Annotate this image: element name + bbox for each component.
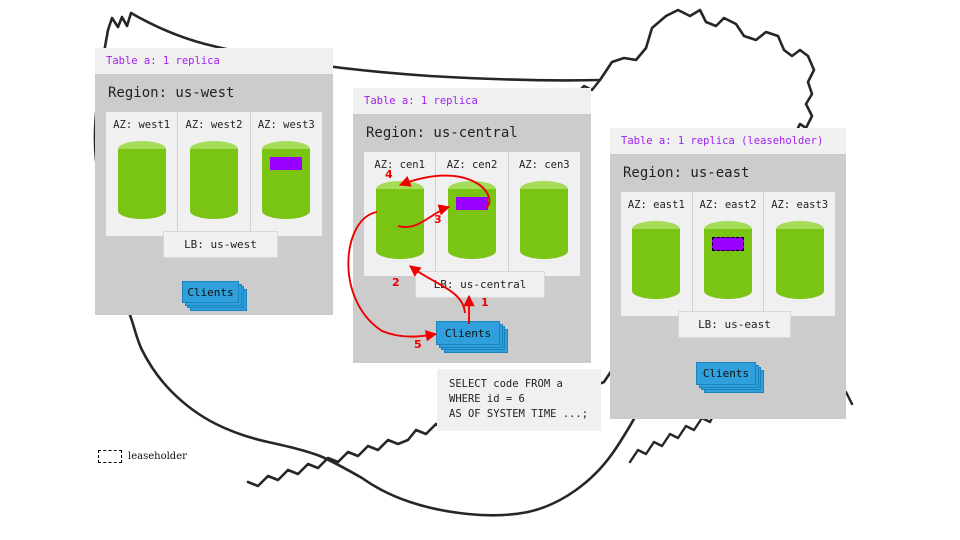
az-west3[interactable]: AZ: west3 xyxy=(250,112,322,236)
az-east2[interactable]: AZ: east2 xyxy=(692,192,764,316)
legend-label: leaseholder xyxy=(128,451,187,462)
az-west1[interactable]: AZ: west1 xyxy=(106,112,177,236)
az-label-west3: AZ: west3 xyxy=(251,119,322,131)
leaseholder-swatch-icon xyxy=(98,450,122,463)
az-west2[interactable]: AZ: west2 xyxy=(177,112,249,236)
arrow-number-1: 1 xyxy=(481,296,489,309)
node-cylinder-west1[interactable] xyxy=(118,141,166,219)
arrow-number-3: 3 xyxy=(434,213,442,226)
cylinder-bottom xyxy=(376,243,424,259)
arrow-number-2: 2 xyxy=(392,276,400,289)
az-label-east1: AZ: east1 xyxy=(621,199,692,211)
region-card-us-west: Table a: 1 replica Region: us-west AZ: w… xyxy=(95,48,333,315)
region-body-us-west: Region: us-west AZ: west1 AZ: west2 xyxy=(95,74,333,315)
cylinder-body xyxy=(118,149,166,211)
az-label-cen1: AZ: cen1 xyxy=(364,159,435,171)
cylinder-body xyxy=(520,189,568,251)
cylinder-bottom xyxy=(262,203,310,219)
region-card-us-central: Table a: 1 replica Region: us-central AZ… xyxy=(353,88,591,363)
region-title-us-east: Region: us-east xyxy=(621,154,835,192)
node-cylinder-cen1[interactable] xyxy=(376,181,424,259)
az-cen3[interactable]: AZ: cen3 xyxy=(508,152,580,276)
load-balancer-us-central[interactable]: LB: us-central xyxy=(415,271,545,298)
arrow-number-5: 5 xyxy=(414,338,422,351)
az-east1[interactable]: AZ: east1 xyxy=(621,192,692,316)
cylinder-body xyxy=(776,229,824,291)
az-label-cen2: AZ: cen2 xyxy=(436,159,507,171)
replica-marker-east2-leaseholder[interactable] xyxy=(712,237,744,251)
az-row-us-central: AZ: cen1 AZ: cen2 xyxy=(364,152,580,276)
cylinder-body xyxy=(376,189,424,251)
cylinder-bottom xyxy=(632,283,680,299)
node-cylinder-cen2[interactable] xyxy=(448,181,496,259)
node-cylinder-west3[interactable] xyxy=(262,141,310,219)
cylinder-bottom xyxy=(190,203,238,219)
cylinder-bottom xyxy=(520,243,568,259)
legend-leaseholder: leaseholder xyxy=(98,450,187,463)
region-header-us-east: Table a: 1 replica (leaseholder) xyxy=(610,128,846,154)
region-title-us-central: Region: us-central xyxy=(364,114,580,152)
node-cylinder-east2[interactable] xyxy=(704,221,752,299)
node-cylinder-cen3[interactable] xyxy=(520,181,568,259)
clients-us-central[interactable]: Clients xyxy=(436,321,506,349)
sql-query-note: SELECT code FROM a WHERE id = 6 AS OF SY… xyxy=(437,369,601,431)
diagram-canvas: Table a: 1 replica Region: us-west AZ: w… xyxy=(0,0,960,540)
load-balancer-us-west[interactable]: LB: us-west xyxy=(163,231,278,258)
clients-label-us-west[interactable]: Clients xyxy=(182,281,239,303)
clients-label-us-east[interactable]: Clients xyxy=(696,362,756,385)
region-header-us-central: Table a: 1 replica xyxy=(353,88,591,114)
cylinder-bottom xyxy=(118,203,166,219)
replica-marker-west3[interactable] xyxy=(270,157,302,170)
cylinder-body xyxy=(632,229,680,291)
region-card-us-east: Table a: 1 replica (leaseholder) Region:… xyxy=(610,128,846,419)
az-cen1[interactable]: AZ: cen1 xyxy=(364,152,435,276)
az-row-us-west: AZ: west1 AZ: west2 AZ xyxy=(106,112,322,236)
az-row-us-east: AZ: east1 AZ: east2 xyxy=(621,192,835,316)
node-cylinder-east1[interactable] xyxy=(632,221,680,299)
cylinder-bottom xyxy=(704,283,752,299)
node-cylinder-west2[interactable] xyxy=(190,141,238,219)
replica-marker-cen2[interactable] xyxy=(456,197,488,210)
az-label-west2: AZ: west2 xyxy=(178,119,249,131)
region-title-us-west: Region: us-west xyxy=(106,74,322,112)
az-cen2[interactable]: AZ: cen2 xyxy=(435,152,507,276)
az-east3[interactable]: AZ: east3 xyxy=(763,192,835,316)
az-label-cen3: AZ: cen3 xyxy=(509,159,580,171)
az-label-west1: AZ: west1 xyxy=(106,119,177,131)
cylinder-body xyxy=(190,149,238,211)
clients-us-east[interactable]: Clients xyxy=(696,362,764,390)
arrow-number-4: 4 xyxy=(385,168,393,181)
az-label-east2: AZ: east2 xyxy=(693,199,764,211)
cylinder-bottom xyxy=(776,283,824,299)
az-label-east3: AZ: east3 xyxy=(764,199,835,211)
cylinder-bottom xyxy=(448,243,496,259)
node-cylinder-east3[interactable] xyxy=(776,221,824,299)
region-header-us-west: Table a: 1 replica xyxy=(95,48,333,74)
clients-label-us-central[interactable]: Clients xyxy=(436,321,500,345)
load-balancer-us-east[interactable]: LB: us-east xyxy=(678,311,791,338)
clients-us-west[interactable]: Clients xyxy=(182,281,244,309)
